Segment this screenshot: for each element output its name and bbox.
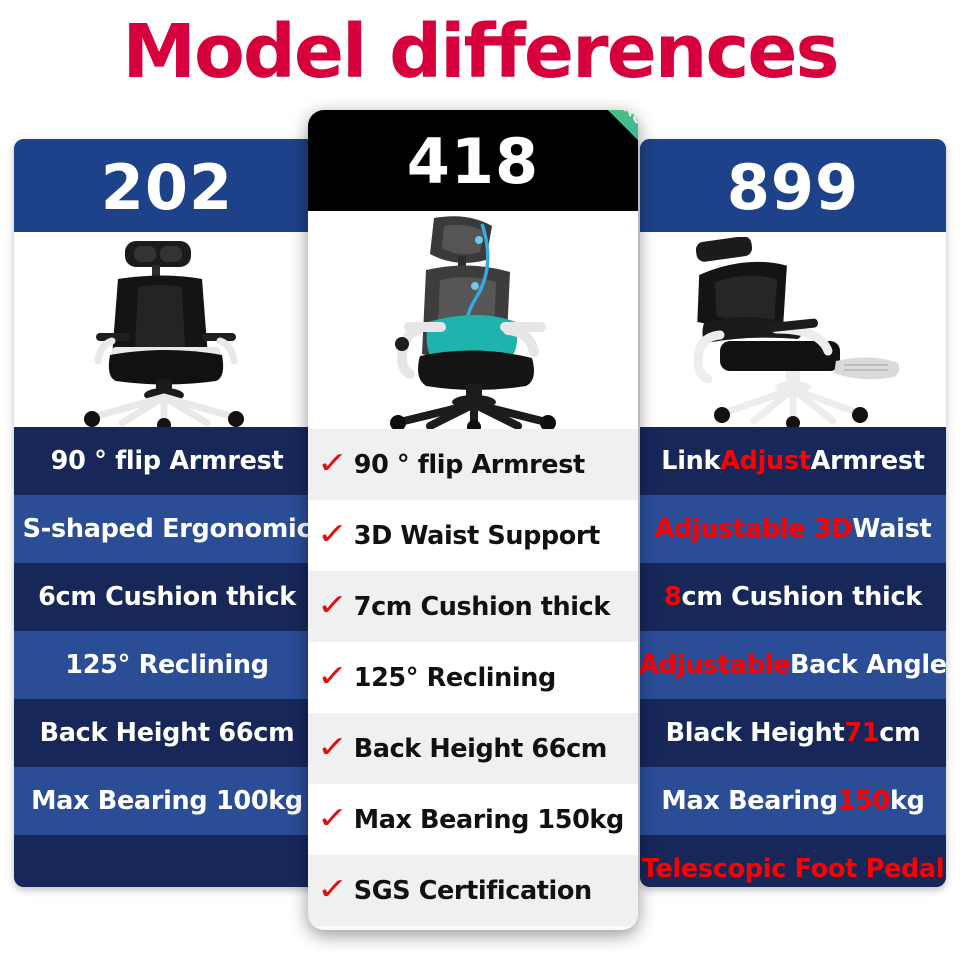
- feature-text: cm: [879, 718, 920, 748]
- feature-row: 125° Reclining: [14, 631, 320, 699]
- check-icon: ✓: [317, 733, 348, 763]
- feature-text: Armrest: [811, 446, 925, 476]
- check-icon: ✓: [317, 591, 348, 621]
- feature-text: cm Cushion thick: [682, 582, 922, 612]
- feature-row: Back Height 66cm: [14, 699, 320, 767]
- feature-row: 6cm Cushion thick: [14, 563, 320, 631]
- model-number-899: 899: [640, 139, 946, 232]
- product-column-left[interactable]: 202: [14, 139, 320, 887]
- feature-row: 8cm Cushion thick: [640, 563, 946, 631]
- product-column-right[interactable]: 899 Link Adjust Armre: [640, 139, 946, 887]
- check-icon: ✓: [317, 449, 348, 479]
- product-image-418: [308, 211, 638, 429]
- feature-label: 7cm Cushion thick: [354, 592, 610, 622]
- feature-text: Black Height: [666, 718, 845, 748]
- check-icon: ✓: [317, 875, 348, 905]
- feature-row-empty: [14, 835, 320, 887]
- check-icon: ✓: [317, 662, 348, 692]
- check-icon: ✓: [317, 804, 348, 834]
- feature-text: Max Bearing: [661, 786, 837, 816]
- feature-label: Back Height 66cm: [354, 734, 607, 764]
- feature-row: Adjustable Back Angle: [640, 631, 946, 699]
- feature-row: 90 ° flip Armrest: [14, 427, 320, 495]
- feature-text: Back Angle: [790, 650, 946, 680]
- advantages-ribbon: ADVANTAGES: [551, 110, 638, 166]
- model-number-418-label: 418: [407, 125, 539, 198]
- feature-label: 3D Waist Support: [354, 521, 600, 551]
- model-number-418: 418 ADVANTAGES: [308, 110, 638, 211]
- feature-highlight: 71: [844, 718, 879, 748]
- feature-row: S-shaped Ergonomic: [14, 495, 320, 563]
- feature-rows-418: ✓ 90 ° flip Armrest ✓ 3D Waist Support ✓…: [308, 429, 638, 926]
- feature-highlight: Telescopic Foot Pedal: [642, 854, 945, 884]
- reclining-chair-illustration: [668, 237, 918, 427]
- feature-text: Link: [661, 446, 720, 476]
- feature-row: Max Bearing 150kg: [640, 767, 946, 835]
- feature-text: Waist: [852, 514, 931, 544]
- feature-row: ✓ SGS Certification: [308, 855, 638, 926]
- feature-highlight: Adjust: [720, 446, 810, 476]
- feature-label: SGS Certification: [354, 876, 592, 906]
- feature-row: ✓ 3D Waist Support: [308, 500, 638, 571]
- feature-highlight: Adjustable 3D: [655, 514, 853, 544]
- feature-rows-202: 90 ° flip Armrest S-shaped Ergonomic 6cm…: [14, 427, 320, 887]
- feature-row: ✓ 125° Reclining: [308, 642, 638, 713]
- office-chair-illustration: [52, 237, 282, 427]
- ergonomic-chair-illustration: [348, 214, 598, 429]
- feature-row: ✓ Max Bearing 150kg: [308, 784, 638, 855]
- feature-row: Link Adjust Armrest: [640, 427, 946, 495]
- feature-row: ✓ Back Height 66cm: [308, 713, 638, 784]
- check-icon: ✓: [317, 520, 348, 550]
- feature-label: Max Bearing 150kg: [354, 805, 624, 835]
- feature-highlight: Adjustable: [640, 650, 790, 680]
- feature-label: 90 ° flip Armrest: [354, 450, 585, 480]
- feature-highlight: 150: [838, 786, 890, 816]
- feature-row: Max Bearing 100kg: [14, 767, 320, 835]
- feature-row: ✓ 7cm Cushion thick: [308, 571, 638, 642]
- product-column-center-featured[interactable]: 418 ADVANTAGES: [308, 110, 638, 930]
- model-number-202: 202: [14, 139, 320, 232]
- feature-highlight: 8: [664, 582, 681, 612]
- feature-rows-899: Link Adjust Armrest Adjustable 3D Waist …: [640, 427, 946, 887]
- product-image-899: [640, 232, 946, 427]
- product-image-202: [14, 232, 320, 427]
- feature-row: Telescopic Foot Pedal: [640, 835, 946, 887]
- feature-row: Black Height 71cm: [640, 699, 946, 767]
- feature-text: kg: [890, 786, 925, 816]
- feature-label: 125° Reclining: [354, 663, 556, 693]
- comparison-board: 202: [0, 0, 960, 960]
- feature-row: Adjustable 3D Waist: [640, 495, 946, 563]
- feature-row: ✓ 90 ° flip Armrest: [308, 429, 638, 500]
